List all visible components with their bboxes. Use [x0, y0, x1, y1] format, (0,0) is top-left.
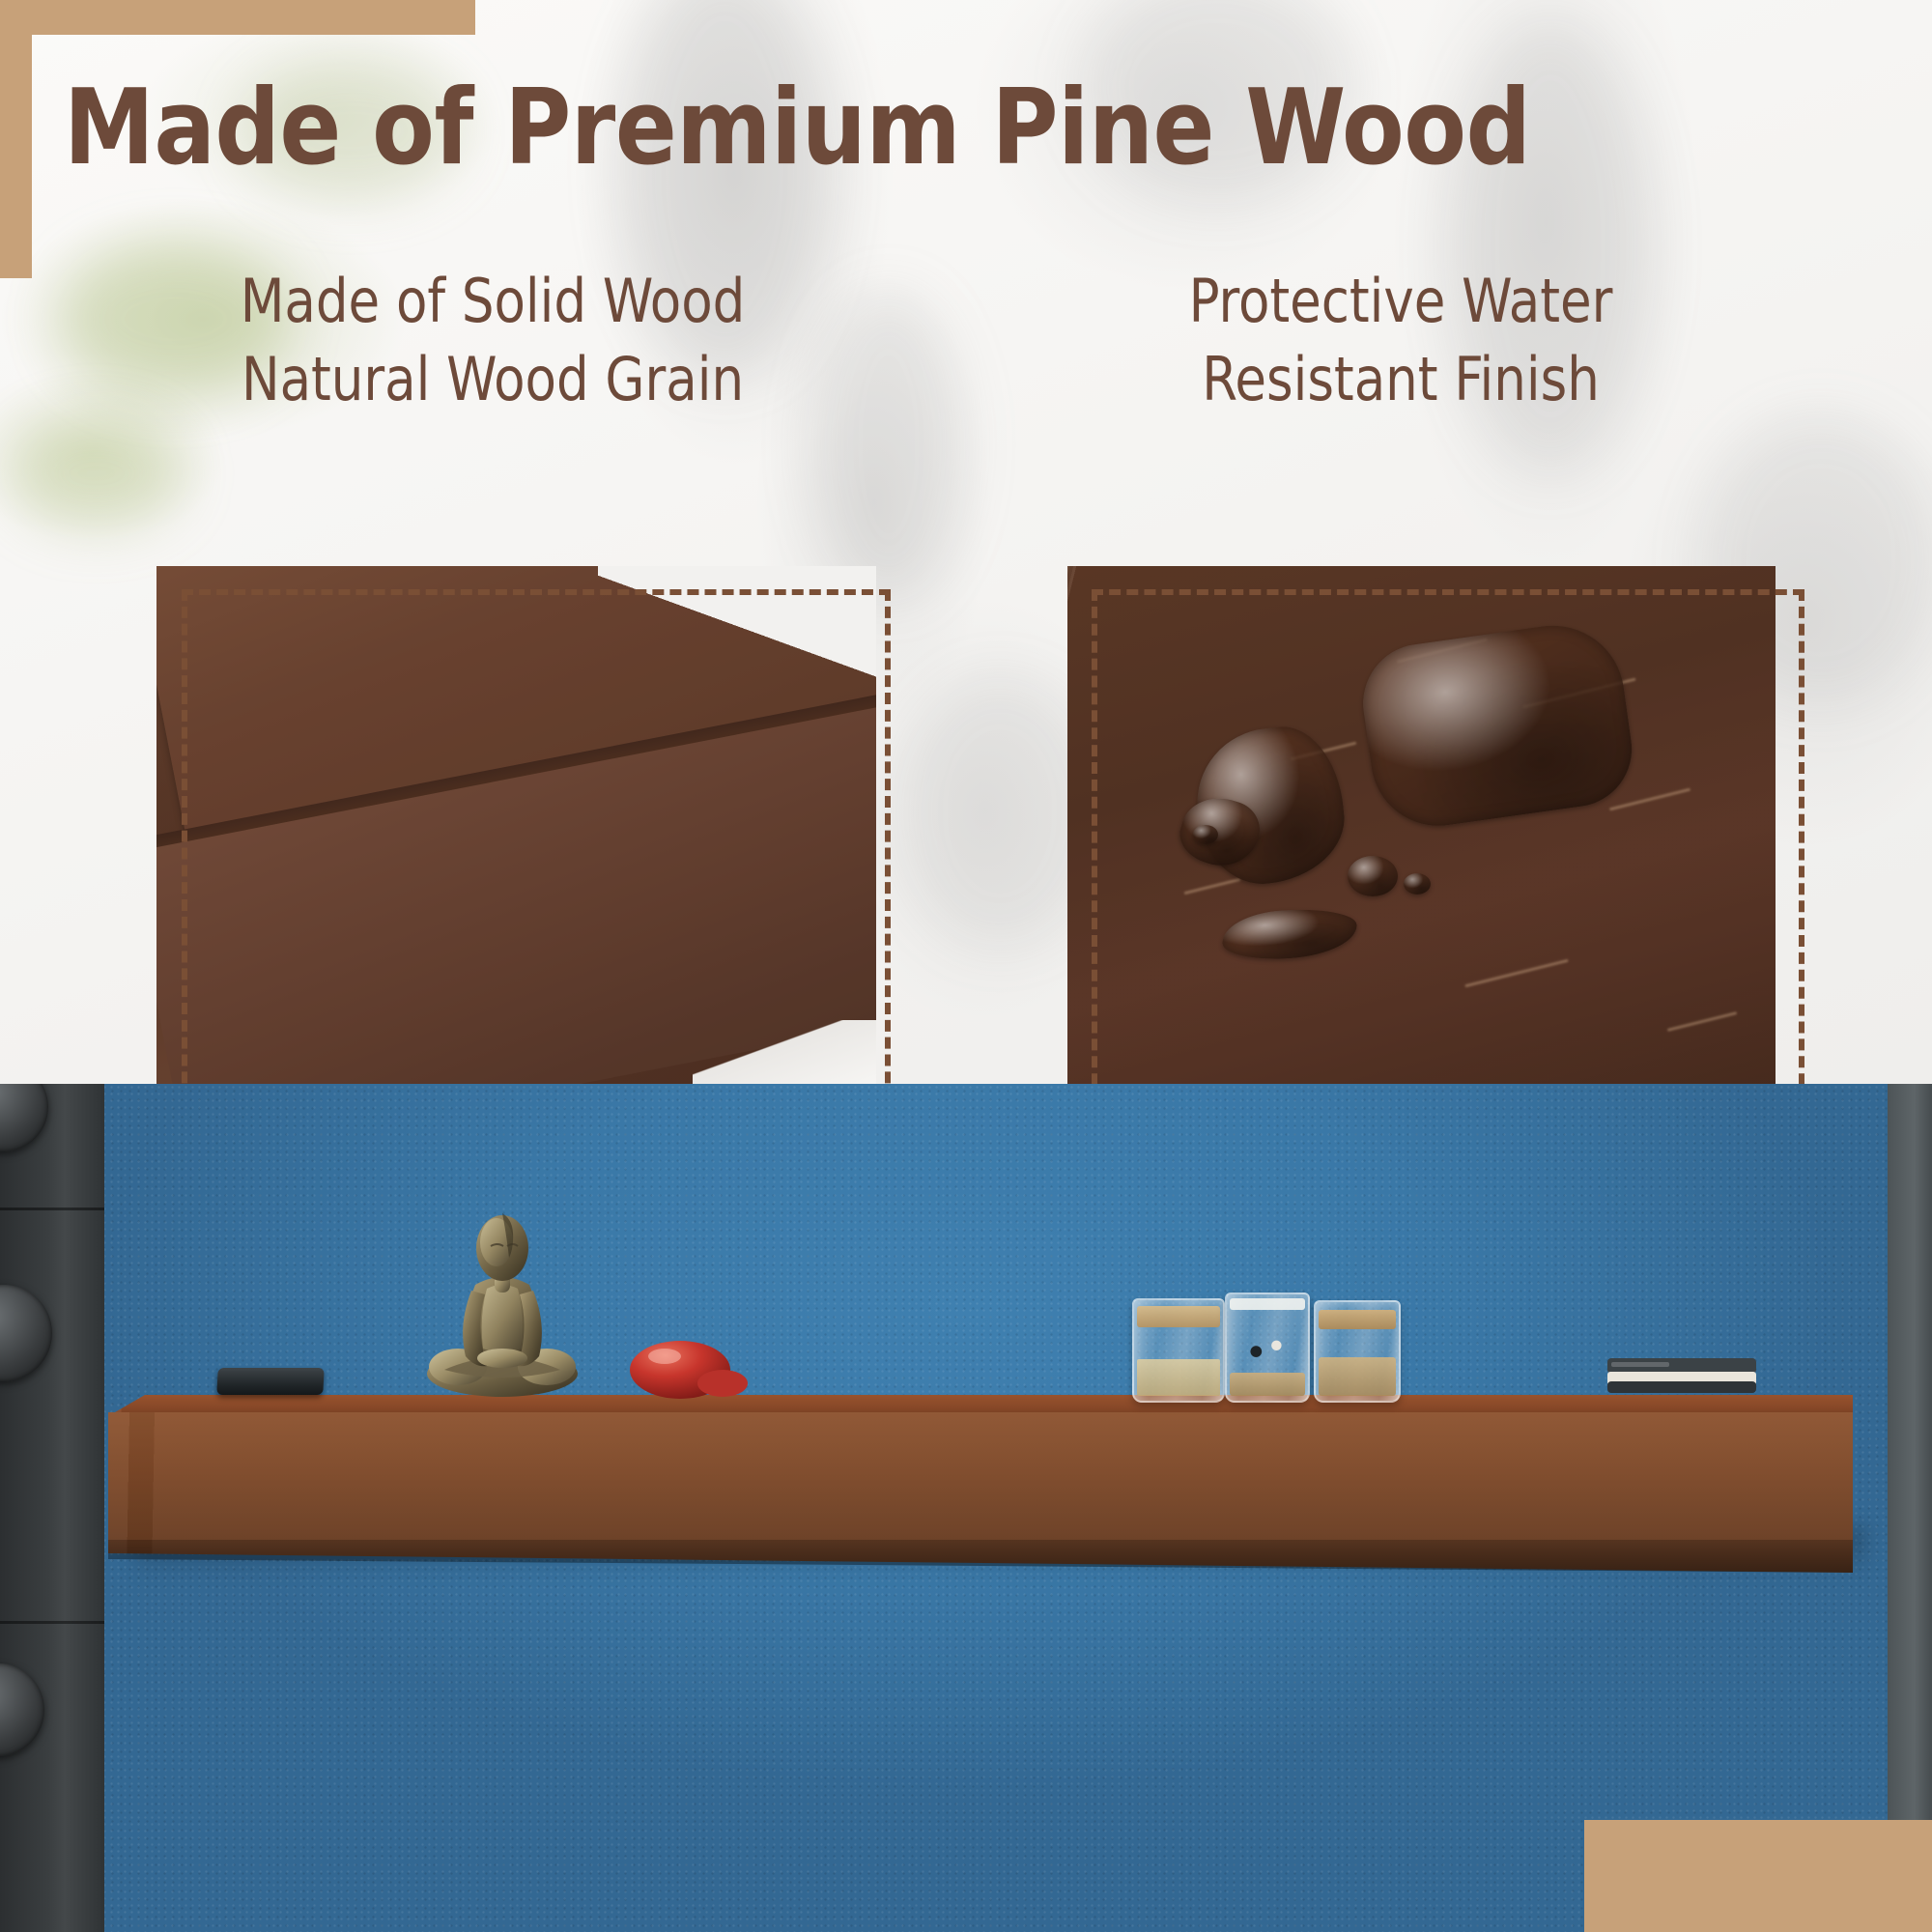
feature-photo-solid-wood — [156, 566, 876, 1088]
glass-jar-candles — [1132, 1298, 1225, 1403]
jar-rope-band — [1137, 1306, 1220, 1327]
jar-rope-band — [1319, 1310, 1396, 1329]
red-apple-ornament — [626, 1335, 750, 1399]
photo-floor-sliver — [693, 1020, 876, 1088]
corner-frame-left-bar — [0, 0, 32, 278]
corner-frame-top-bar — [0, 0, 475, 35]
dark-cabinet — [0, 1084, 104, 1932]
jar-candle-contents — [1137, 1359, 1220, 1396]
water-droplet-large — [1355, 616, 1639, 835]
jar-sand-bottom — [1230, 1373, 1305, 1396]
remote-control — [216, 1368, 324, 1395]
buddha-statue — [415, 1207, 589, 1399]
page-title: Made of Premium Pine Wood — [64, 75, 1844, 182]
jar-white-lid — [1230, 1298, 1305, 1310]
lifestyle-scene — [0, 1084, 1932, 1932]
water-droplet-small-1 — [1348, 856, 1398, 896]
water-droplet-small-3 — [1193, 825, 1218, 844]
cabinet-knob-middle — [0, 1285, 52, 1381]
hardcover-book — [1605, 1352, 1758, 1399]
corner-frame-bottom-right — [1584, 1820, 1932, 1932]
product-infographic: Made of Premium Pine Wood Made of Solid … — [0, 0, 1932, 1932]
floating-wall-shelf — [108, 1395, 1853, 1578]
photo-background-cut — [598, 566, 876, 680]
jar-star-ornaments — [1230, 1329, 1305, 1370]
cabinet-knob-top — [0, 1084, 48, 1151]
feature-caption-water-resistant: Protective Water Resistant Finish — [1052, 263, 1749, 418]
feature-photo-water-resistant — [1067, 566, 1776, 1088]
feature-caption-line1: Made of Solid Wood — [135, 263, 851, 341]
shelf-bottom-edge — [108, 1540, 1853, 1573]
cabinet-knob-bottom — [0, 1663, 44, 1756]
glass-jar-stars — [1225, 1293, 1310, 1403]
glass-jar-sand — [1314, 1300, 1401, 1403]
water-droplet-small-2 — [1404, 873, 1431, 895]
feature-caption-solid-wood: Made of Solid Wood Natural Wood Grain — [135, 263, 851, 418]
jar-sand-contents — [1319, 1357, 1396, 1396]
feature-caption-line2: Natural Wood Grain — [135, 341, 851, 419]
feature-caption-line1: Protective Water — [1052, 263, 1749, 341]
feature-caption-line2: Resistant Finish — [1052, 341, 1749, 419]
right-wall-edge — [1888, 1084, 1932, 1932]
